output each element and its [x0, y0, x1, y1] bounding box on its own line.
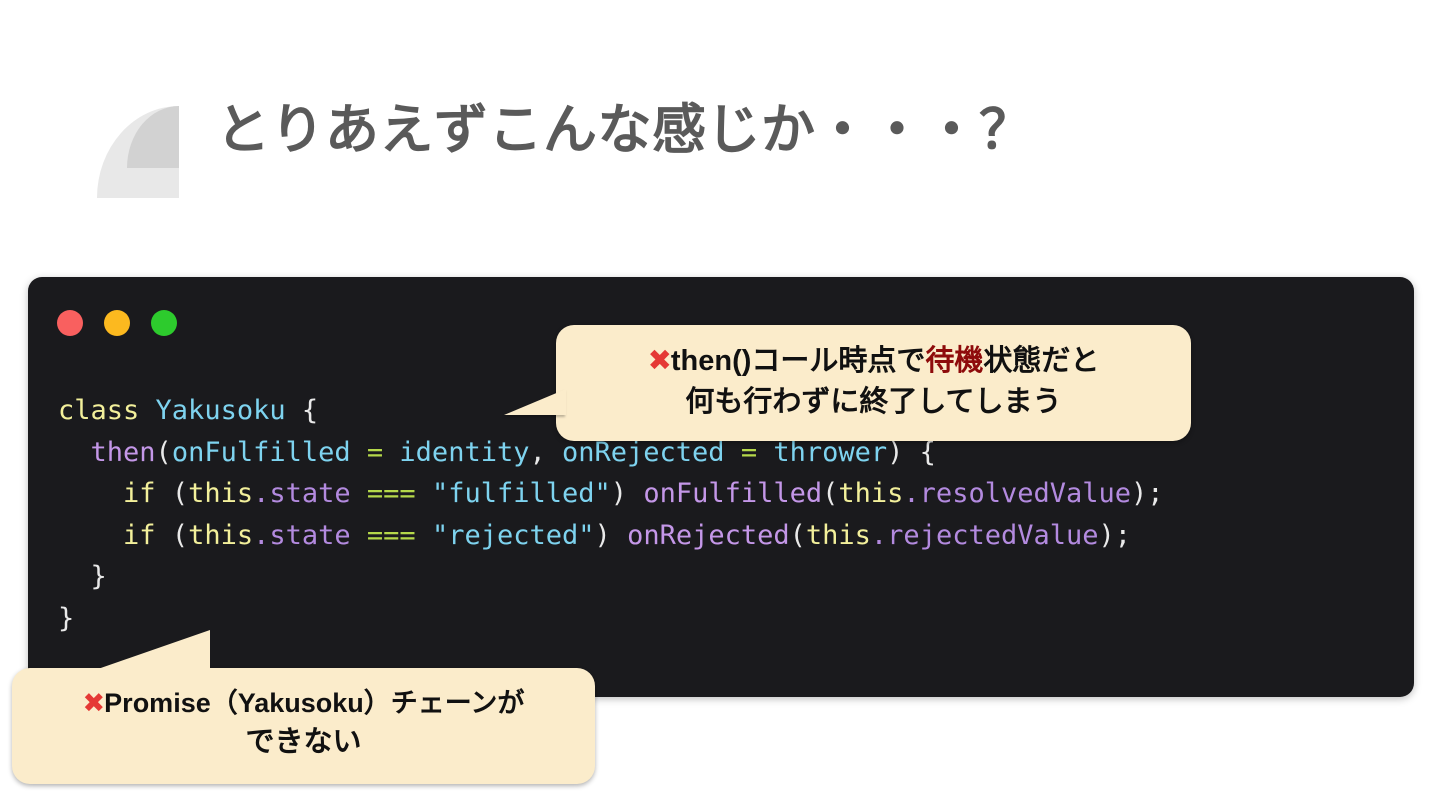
code-token: class: [58, 395, 139, 426]
code-token: .resolvedValue: [903, 478, 1131, 509]
code-line: if (this.state === "rejected") onRejecte…: [58, 515, 1404, 557]
code-token: onRejected: [562, 437, 725, 468]
code-token: ===: [367, 520, 416, 551]
cross-mark-icon: ✖: [83, 688, 105, 718]
code-token: if: [123, 478, 156, 509]
code-token: this: [188, 520, 253, 551]
code-token: {: [302, 395, 318, 426]
code-line: }: [58, 598, 1404, 640]
zoom-button[interactable]: [151, 310, 177, 336]
code-token: "fulfilled": [432, 478, 611, 509]
code-token: [627, 478, 643, 509]
code-token: ===: [367, 478, 416, 509]
code-indent: [58, 478, 123, 509]
code-token: [139, 395, 155, 426]
code-token: this: [838, 478, 903, 509]
code-token: identity: [399, 437, 529, 468]
code-token: [725, 437, 741, 468]
callout-top-line1-emphasis: 待機: [925, 345, 983, 377]
minimize-button[interactable]: [104, 310, 130, 336]
callout-bottom-line-2: できない: [22, 722, 585, 763]
code-indent: [58, 520, 123, 551]
code-token: [383, 437, 399, 468]
callout-top-line1-post: 状態だと: [983, 345, 1099, 377]
callout-bottom-line1-text: Promise（Yakusoku）チェーンが: [104, 688, 524, 718]
code-token: ): [611, 478, 627, 509]
code-token: (: [790, 520, 806, 551]
code-line: }: [58, 556, 1404, 598]
code-token: onFulfilled: [172, 437, 351, 468]
code-token: onRejected: [627, 520, 790, 551]
code-token: [351, 437, 367, 468]
callout-bottom-line-1: ✖Promise（Yakusoku）チェーンが: [22, 684, 585, 722]
code-token: .state: [253, 520, 351, 551]
code-token: [156, 478, 172, 509]
code-token: [156, 520, 172, 551]
code-token: [903, 437, 919, 468]
callout-top-line-1: ✖then()コール時点で待機状態だと: [566, 341, 1181, 382]
code-token: (: [822, 478, 838, 509]
code-token: (: [156, 437, 172, 468]
cross-mark-icon: ✖: [648, 345, 671, 377]
code-token: [416, 478, 432, 509]
close-button[interactable]: [57, 310, 83, 336]
code-token: thrower: [773, 437, 887, 468]
code-token: );: [1131, 478, 1164, 509]
code-token: [351, 478, 367, 509]
code-token: ,: [529, 437, 562, 468]
code-token: =: [741, 437, 757, 468]
callout-bubble-no-chaining: ✖Promise（Yakusoku）チェーンが できない: [12, 668, 595, 784]
code-token: }: [91, 561, 107, 592]
slide-header: とりあえずこんな感じか・・・？: [0, 0, 1440, 240]
callout-tail-icon: [504, 387, 566, 415]
code-line: if (this.state === "fulfilled") onFulfil…: [58, 473, 1404, 515]
code-token: (: [172, 520, 188, 551]
logo-inner-shape: [127, 106, 179, 168]
quarter-circle-logo-icon: [97, 106, 179, 198]
callout-bubble-pending-state: ✖then()コール時点で待機状態だと 何も行わずに終了してしまう: [556, 325, 1191, 441]
code-token: [611, 520, 627, 551]
code-token: .rejectedValue: [871, 520, 1099, 551]
code-token: "rejected": [432, 520, 595, 551]
code-token: [757, 437, 773, 468]
code-token: if: [123, 520, 156, 551]
code-indent: [58, 561, 91, 592]
callout-tail-icon: [95, 630, 210, 670]
code-token: =: [367, 437, 383, 468]
code-token: this: [188, 478, 253, 509]
code-token: [351, 520, 367, 551]
code-token: .state: [253, 478, 351, 509]
code-token: ): [595, 520, 611, 551]
code-token: (: [172, 478, 188, 509]
code-token: );: [1099, 520, 1132, 551]
code-indent: [58, 437, 91, 468]
code-token: this: [806, 520, 871, 551]
window-controls: [57, 310, 177, 336]
code-token: onFulfilled: [643, 478, 822, 509]
code-token: [286, 395, 302, 426]
code-token: [416, 520, 432, 551]
code-token: {: [920, 437, 936, 468]
code-token: then: [91, 437, 156, 468]
code-token: Yakusoku: [156, 395, 286, 426]
code-token: ): [887, 437, 903, 468]
page-title: とりあえずこんな感じか・・・？: [216, 98, 1034, 163]
callout-top-line1-pre: then()コール時点で: [671, 345, 926, 377]
code-token: }: [58, 603, 74, 634]
callout-top-line-2: 何も行わずに終了してしまう: [566, 382, 1181, 423]
